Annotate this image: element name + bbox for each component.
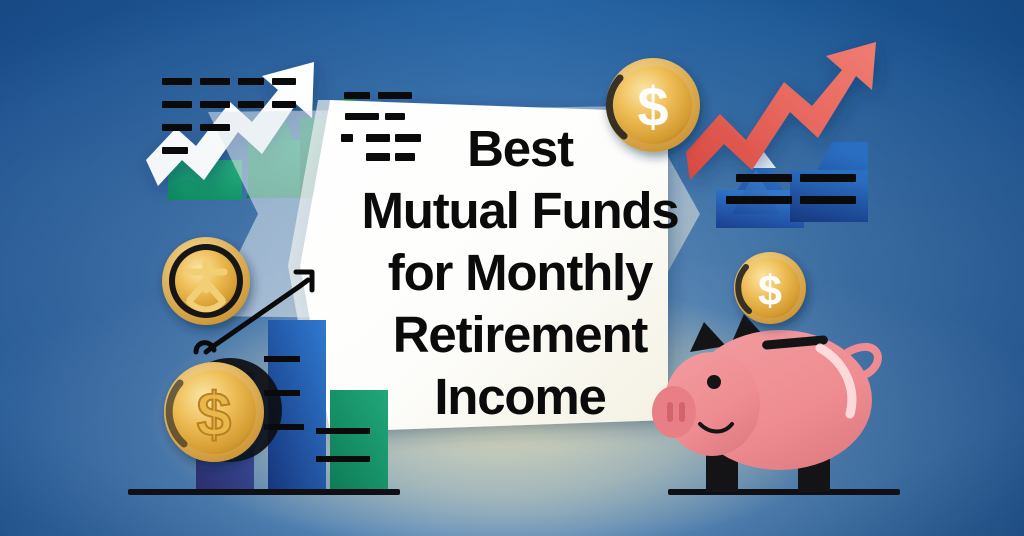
title-line-5: Income: [330, 366, 710, 428]
svg-text:$: $: [197, 381, 231, 450]
banner-image: $ $ $: [0, 0, 1024, 536]
grid-dash: [200, 124, 230, 131]
grid-dash: [392, 92, 412, 99]
coin-left-emblem: [162, 237, 250, 325]
grid-dash: [162, 124, 192, 131]
grid-dash: [344, 92, 370, 99]
title-line-2: Mutual Funds: [330, 180, 710, 242]
grid-dash: [238, 78, 264, 85]
svg-text:$: $: [758, 267, 782, 315]
baseline-left: [128, 489, 400, 495]
baseline-right: [668, 489, 900, 495]
grid-dash: [238, 101, 264, 108]
grid-dash: [736, 174, 792, 182]
grid-dash: [726, 196, 792, 204]
title-line-3: for Monthly: [330, 242, 710, 304]
grid-dash: [800, 174, 856, 182]
grid-dash: [162, 147, 188, 154]
grid-dash: [800, 196, 856, 204]
grid-dash: [162, 78, 192, 85]
grid-dash: [162, 101, 192, 108]
grid-dash: [272, 101, 296, 108]
title-line-4: Retirement: [330, 304, 710, 366]
page-title: Best Mutual Funds for Monthly Retirement…: [330, 118, 710, 428]
title-line-1: Best: [330, 118, 710, 180]
grid-dash: [200, 101, 230, 108]
coin-left-dollar: $: [164, 362, 264, 462]
grid-dash: [272, 78, 296, 85]
coin-right-dollar: $: [734, 252, 806, 324]
grid-dash: [200, 78, 230, 85]
